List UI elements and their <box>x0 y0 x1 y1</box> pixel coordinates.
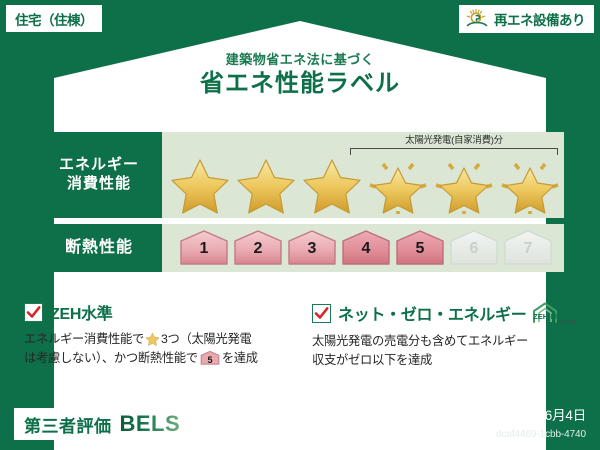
energy-label-line1: エネルギー <box>59 156 139 175</box>
inline-star-icon <box>145 331 160 346</box>
desc-part-2: は考慮しない）、かつ断熱性能で <box>24 351 198 365</box>
energy-row-body: 太陽光発電(自家消費)分 <box>162 132 564 218</box>
criterion-zeh-level: ZEH水準 エネルギー消費性能で3つ（太陽光発電は考慮しない）、かつ断熱性能で5… <box>24 300 296 372</box>
energy-performance-label: 住宅（住棟） 再エネ設備あり 建築物省エネ法に基づく 省エネ性能ラベル <box>0 0 600 450</box>
insulation-step: 2 <box>232 228 284 268</box>
insulation-step-number: 1 <box>178 241 230 257</box>
criterion-title: ZEH水準 <box>50 300 113 324</box>
star-filled <box>300 152 364 214</box>
desc-part-3: を達成 <box>222 351 258 365</box>
renewable-badge-text: 再エネ設備あり <box>494 9 585 29</box>
insulation-step-inactive: 6 <box>448 228 500 268</box>
insulation-row-body: 1 2 3 <box>162 224 564 272</box>
energy-row-label: エネルギー 消費性能 <box>36 132 162 218</box>
insulation-label-text: 断熱性能 <box>65 238 133 258</box>
insulation-step-number: 7 <box>502 241 554 257</box>
desc-part-1: エネルギー消費性能で <box>24 332 144 346</box>
check-icon <box>26 305 41 320</box>
evaluation-date: 評価日 2025年6月4日 <box>459 404 586 424</box>
criterion-description: 太陽光発電の売電分も含めてエネルギー収支がゼロ以下を達成 <box>312 332 584 370</box>
insulation-step-number: 6 <box>448 241 500 257</box>
building-type-tag: 住宅（住棟） <box>6 5 102 32</box>
inline-house-chip: 5 <box>200 350 220 372</box>
certificate-number: 0280355-01 <box>196 420 259 432</box>
sun-icon <box>464 8 490 30</box>
renewable-equipment-badge: 再エネ設備あり <box>459 5 594 33</box>
criterion-net-zero-energy: ネット・ゼロ・エネルギー ZEH-M [ZEH-M] 太陽光発電の売電分も含めて… <box>312 300 584 372</box>
desc-star-count: 3つ（太陽光発電 <box>161 332 252 346</box>
energy-performance-row: エネルギー 消費性能 太陽光発電(自家消費)分 <box>36 132 564 218</box>
criterion-header: ネット・ゼロ・エネルギー ZEH-M [ZEH-M] <box>312 300 584 326</box>
insulation-step-number: 3 <box>286 241 338 257</box>
star-solar <box>366 152 430 214</box>
headline-title: 省エネ性能ラベル <box>0 68 600 100</box>
zeh-m-logo-icon: ZEH-M [ZEH-M] <box>531 300 575 326</box>
star-filled <box>234 152 298 214</box>
third-party-label: 第三者評価 <box>24 412 112 437</box>
insulation-step: 4 <box>340 228 392 268</box>
solar-bracket-caption: 太陽光発電(自家消費)分 <box>350 136 558 146</box>
insulation-step-number: 5 <box>394 241 446 257</box>
insulation-performance-row: 断熱性能 <box>36 224 564 272</box>
criteria-section: ZEH水準 エネルギー消費性能で3つ（太陽光発電は考慮しない）、かつ断熱性能で5… <box>24 300 584 372</box>
star-solar <box>498 152 562 214</box>
insulation-step: 3 <box>286 228 338 268</box>
bels-plate: 第三者評価 BELS <box>14 408 190 440</box>
record-uuid: dcaf4469-1cbb-4740 <box>496 429 586 440</box>
insulation-scale: 1 2 3 <box>178 228 554 268</box>
insulation-step: 1 <box>178 228 230 268</box>
svg-text:[ZEH-M]: [ZEH-M] <box>557 320 575 326</box>
label-headline: 建築物省エネ法に基づく 省エネ性能ラベル <box>0 52 600 100</box>
star-solar <box>432 152 496 214</box>
desc-line-2: 収支がゼロ以下を達成 <box>312 353 432 367</box>
criterion-title: ネット・ゼロ・エネルギー <box>338 301 526 325</box>
insulation-row-label: 断熱性能 <box>36 224 162 272</box>
bels-wordmark: BELS <box>120 411 181 437</box>
checkbox-zeh-level[interactable] <box>24 303 43 322</box>
desc-line-1: 太陽光発電の売電分も含めてエネルギー <box>312 334 528 348</box>
insulation-step-number: 2 <box>232 241 284 257</box>
checkbox-net-zero-energy[interactable] <box>312 304 331 323</box>
check-icon <box>314 306 329 321</box>
star-filled <box>168 152 232 214</box>
building-type-text: 住宅（住棟） <box>15 9 93 29</box>
insulation-step-achieved: 5 <box>394 228 446 268</box>
inline-house-number: 5 <box>200 354 220 368</box>
performance-rows: エネルギー 消費性能 太陽光発電(自家消費)分 <box>36 132 564 278</box>
headline-subtitle: 建築物省エネ法に基づく <box>0 52 600 68</box>
insulation-step-inactive: 7 <box>502 228 554 268</box>
criterion-description: エネルギー消費性能で3つ（太陽光発電は考慮しない）、かつ断熱性能で5を達成 <box>24 330 296 372</box>
star-rating <box>168 152 562 214</box>
criterion-header: ZEH水準 <box>24 300 296 324</box>
energy-label-line2: 消費性能 <box>67 175 131 194</box>
svg-text:ZEH-M: ZEH-M <box>534 312 558 321</box>
insulation-step-number: 4 <box>340 241 392 257</box>
